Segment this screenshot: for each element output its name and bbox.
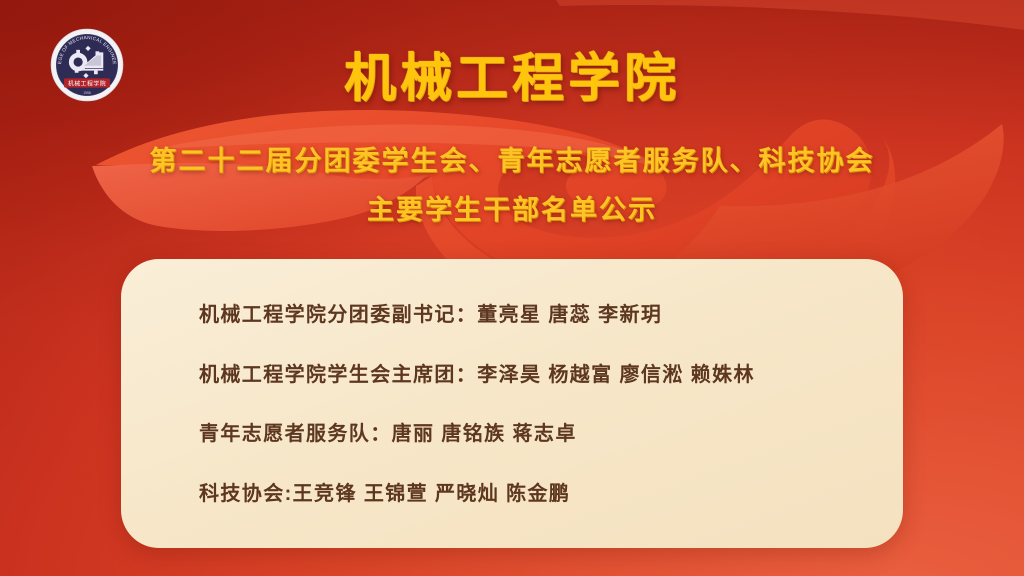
subtitle-line-1: 第二十二届分团委学生会、青年志愿者服务队、科技协会 (0, 144, 1024, 178)
list-item: 机械工程学院分团委副书记：董亮星 唐蕊 李新玥 (199, 301, 873, 329)
list-item: 科技协会:王竞锋 王锦萱 严晓灿 陈金鹏 (199, 480, 873, 508)
name-list-card: 机械工程学院分团委副书记：董亮星 唐蕊 李新玥 机械工程学院学生会主席团：李泽昊… (121, 259, 903, 548)
page-title: 机械工程学院 (0, 48, 1024, 110)
list-item: 机械工程学院学生会主席团：李泽昊 杨越富 廖信淞 赖姝林 (199, 361, 873, 389)
subtitle-line-2: 主要学生干部名单公示 (0, 193, 1024, 227)
list-item: 青年志愿者服务队：唐丽 唐铭族 蒋志卓 (199, 420, 873, 448)
name-list-body: 机械工程学院分团委副书记：董亮星 唐蕊 李新玥 机械工程学院学生会主席团：李泽昊… (199, 285, 873, 524)
poster-slide: COLLEGE OF MECHANICAL ENGINEERING (0, 0, 1024, 576)
